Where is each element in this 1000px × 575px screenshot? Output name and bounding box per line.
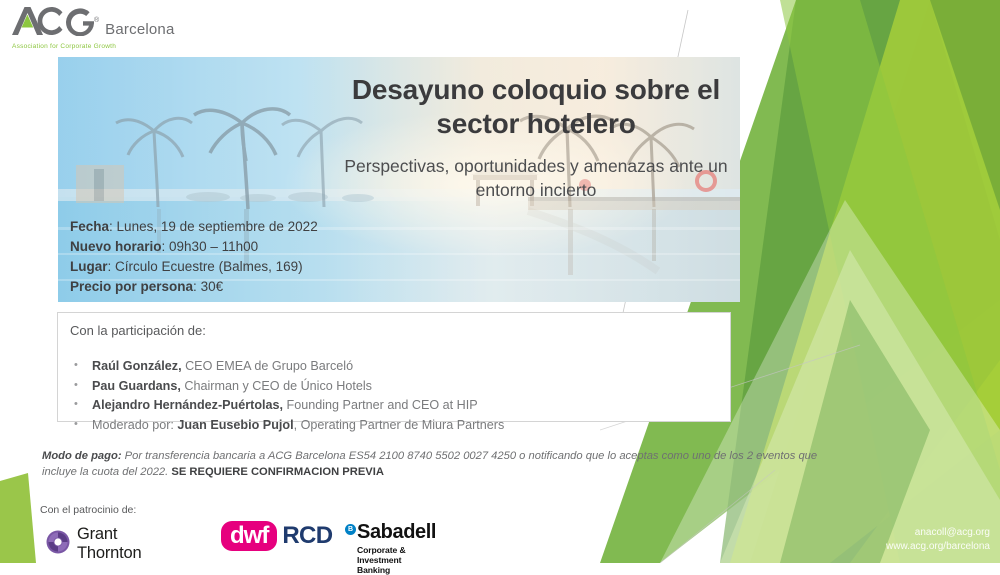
hero-title: Desayuno coloquio sobre el sector hotele… — [336, 73, 736, 141]
hero-detail-key: Precio por persona — [70, 279, 193, 294]
hero-detail-value: 09h30 – 11h00 — [169, 239, 258, 254]
participant-role: CEO EMEA de Grupo Barceló — [182, 359, 354, 373]
sabadell-wordmark-row: B Sabadell — [345, 522, 436, 542]
hero-detail-sep: : — [193, 279, 201, 294]
payment-emphasis: SE REQUIERE CONFIRMACION PREVIA — [171, 466, 384, 478]
hero-detail-sep: : — [162, 239, 170, 254]
acg-logo-registered-mark: ® — [94, 17, 99, 24]
participant-prefix: Moderado por: — [92, 418, 177, 432]
hero-subtitle: Perspectivas, oportunidades y amenazas a… — [336, 155, 736, 202]
sabadell-wordmark: Sabadell — [357, 522, 436, 542]
hero-detail-row: Fecha: Lunes, 19 de septiembre de 2022 — [70, 217, 318, 237]
hero-detail-row: Precio por persona: 30€ — [70, 277, 318, 297]
participant-role: Founding Partner and CEO at HIP — [283, 398, 478, 412]
list-item: Moderado por: Juan Eusebio Pujol, Operat… — [70, 416, 504, 436]
hero-detail-sep: : — [109, 219, 117, 234]
hero-detail-key: Fecha — [70, 219, 109, 234]
participant-name: Pau Guardans, — [92, 379, 181, 393]
hero-detail-value: 30€ — [201, 279, 224, 294]
hero-detail-row: Nuevo horario: 09h30 – 11h00 — [70, 237, 318, 257]
hero-detail-sep: : — [108, 259, 116, 274]
contact-block: anacoll@acg.org www.acg.org/barcelona — [886, 526, 990, 553]
participants-panel: Con la participación de: Raúl González, … — [57, 312, 731, 422]
payment-body: Por transferencia bancaria a ACG Barcelo… — [42, 450, 817, 478]
payment-note: Modo de pago: Por transferencia bancaria… — [42, 448, 832, 480]
participant-name: Raúl González, — [92, 359, 182, 373]
hero-detail-value: Círculo Ecuestre (Balmes, 169) — [115, 259, 303, 274]
hero-detail-row: Lugar: Círculo Ecuestre (Balmes, 169) — [70, 257, 318, 277]
contact-email[interactable]: anacoll@acg.org — [886, 526, 990, 540]
participants-list: Raúl González, CEO EMEA de Grupo Barceló… — [70, 357, 504, 435]
hero-event-details: Fecha: Lunes, 19 de septiembre de 2022 N… — [70, 217, 318, 296]
hero-detail-key: Nuevo horario — [70, 239, 162, 254]
grant-thornton-swirl-icon — [46, 530, 70, 559]
hero-detail-value: Lunes, 19 de septiembre de 2022 — [117, 219, 318, 234]
acg-logo-icon — [10, 6, 96, 41]
sponsors-label: Con el patrocinio de: — [40, 504, 136, 516]
sponsor-dwf-rcd: dwf RCD — [221, 521, 333, 551]
contact-website[interactable]: www.acg.org/barcelona — [886, 540, 990, 554]
sponsor-grant-thornton: Grant Thornton — [46, 525, 141, 563]
list-item: Raúl González, CEO EMEA de Grupo Barceló — [70, 357, 504, 377]
list-item: Pau Guardans, Chairman y CEO de Único Ho… — [70, 377, 504, 397]
list-item: Alejandro Hernández-Puértolas, Founding … — [70, 396, 504, 416]
sabadell-subtitle: Corporate & Investment Banking — [357, 545, 436, 575]
participant-name: Juan Eusebio Pujol — [177, 418, 293, 432]
sponsor-sabadell: B Sabadell Corporate & Investment Bankin… — [345, 522, 436, 575]
participant-role: , Operating Partner de Miura Partners — [294, 418, 505, 432]
participant-name: Alejandro Hernández-Puértolas, — [92, 398, 283, 412]
participant-role: Chairman y CEO de Único Hotels — [181, 379, 372, 393]
hero-detail-key: Lugar — [70, 259, 108, 274]
grant-thornton-wordmark: Grant Thornton — [77, 525, 141, 563]
rcd-wordmark: RCD — [282, 522, 332, 550]
sabadell-b-badge-icon: B — [345, 524, 356, 535]
participants-heading: Con la participación de: — [70, 323, 206, 338]
acg-logo-tagline: Association for Corporate Growth — [12, 43, 210, 50]
dwf-wordmark: dwf — [221, 521, 277, 551]
payment-label: Modo de pago: — [42, 450, 122, 462]
acg-logo-block: ® Barcelona Association for Corporate Gr… — [10, 6, 210, 50]
hero-banner: Desayuno coloquio sobre el sector hotele… — [58, 57, 740, 302]
acg-logo-city-label: Barcelona — [105, 21, 174, 38]
